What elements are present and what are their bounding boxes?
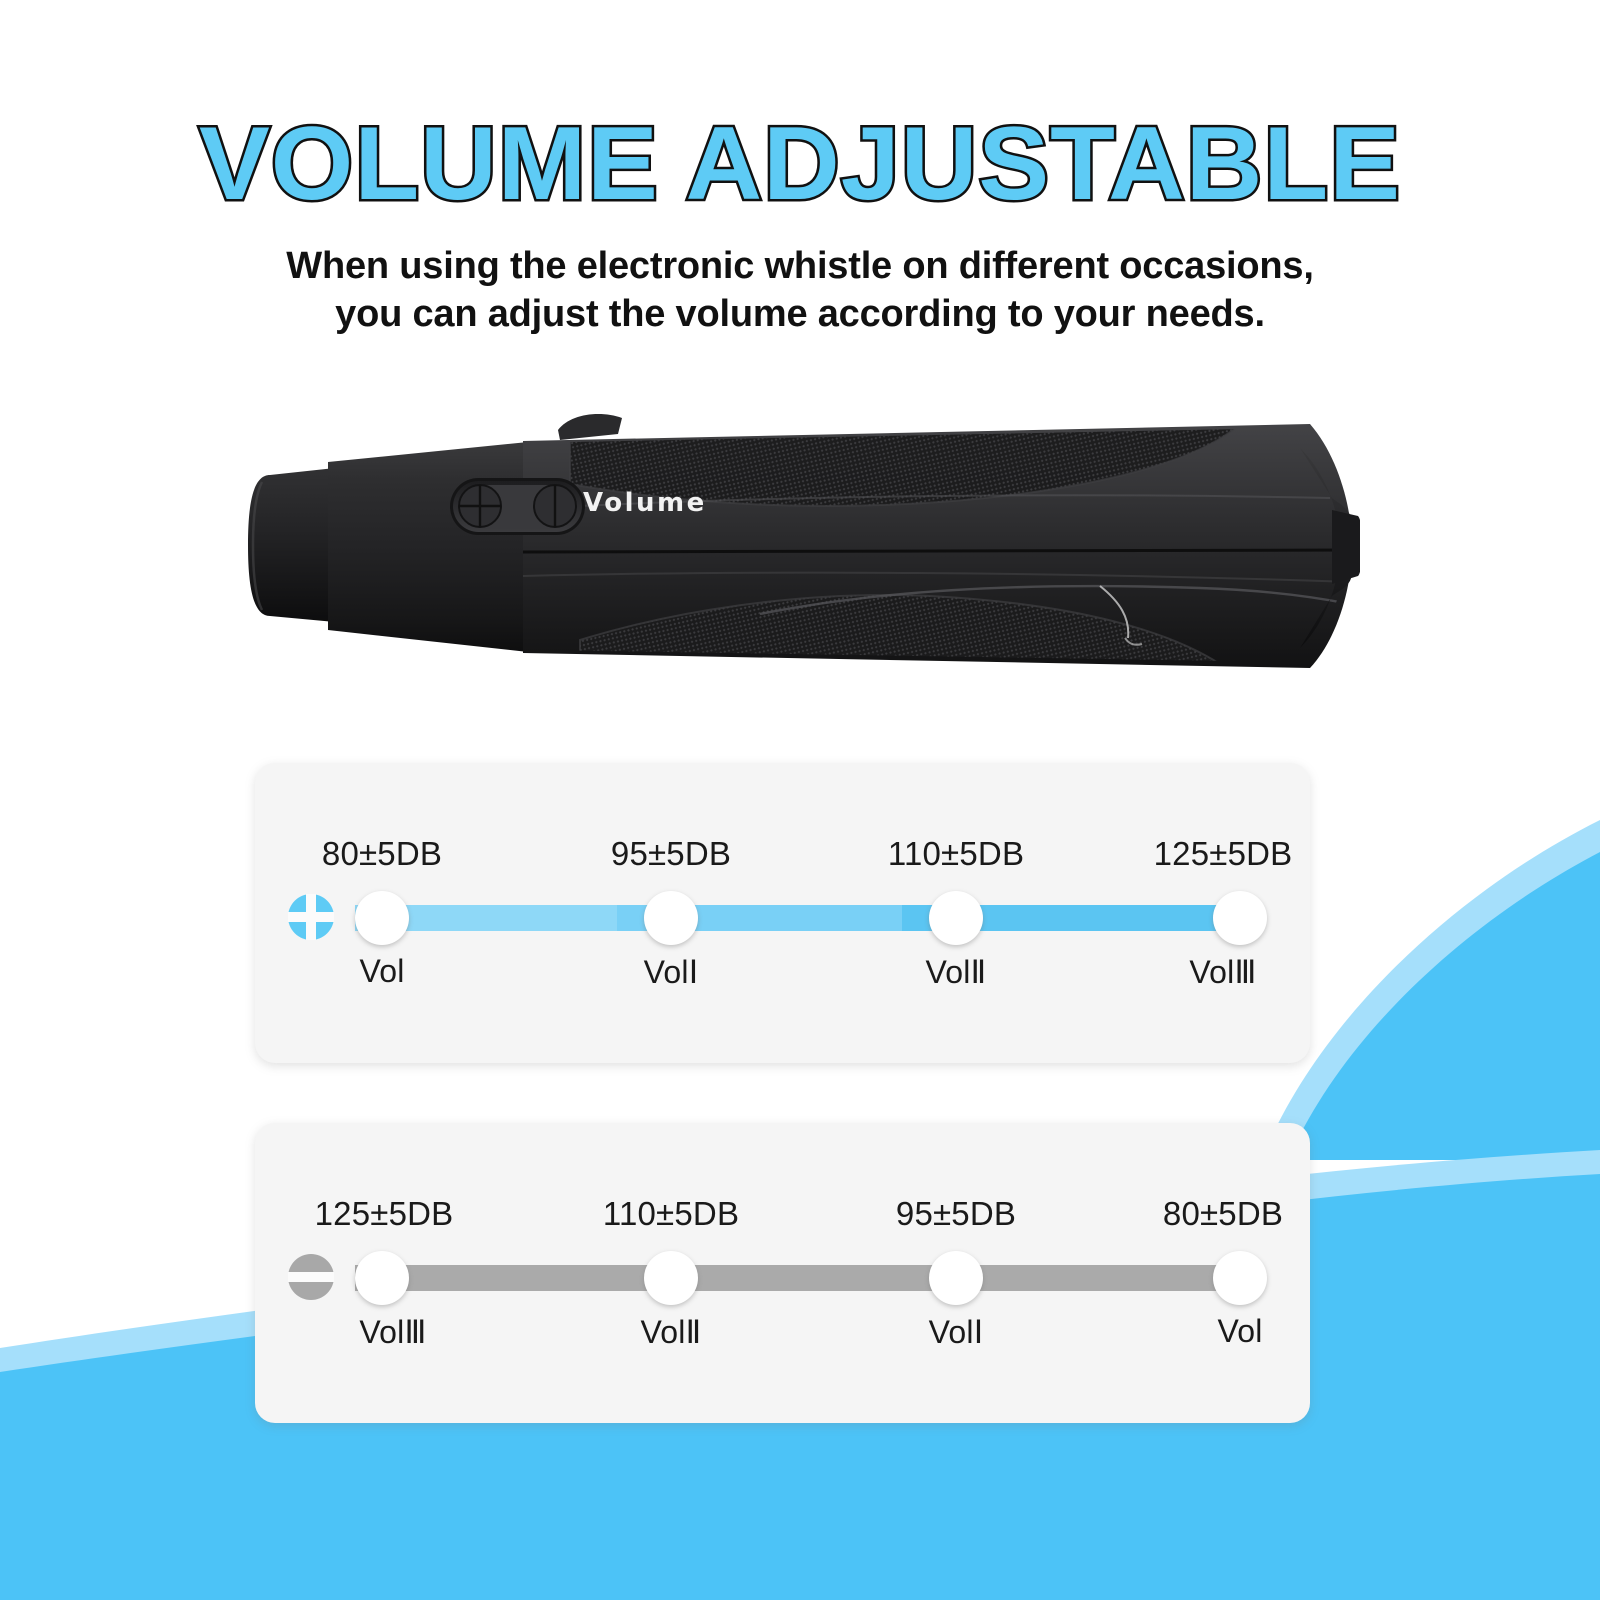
db-label: 80±5DB: [322, 835, 442, 873]
vol-label: Vol: [1217, 1313, 1262, 1350]
subtitle-line-1: When using the electronic whistle on dif…: [0, 242, 1600, 290]
volume-decrease-card: 125±5DB 110±5DB 95±5DB 80±5DB VolⅢ VolⅡ …: [255, 1123, 1310, 1423]
vol-label: VolⅠ: [929, 1313, 984, 1351]
whistle-end-cap: [248, 468, 335, 622]
volume-slider-increase[interactable]: 80±5DB 95±5DB 110±5DB 125±5DB Vol VolⅠ V…: [255, 763, 1310, 1063]
wave-right: [1288, 852, 1600, 1160]
whistle-top-nub: [558, 414, 622, 440]
header: VOLUME ADJUSTABLE When using the electro…: [0, 0, 1600, 339]
whistle-illustration: [240, 400, 1360, 700]
slider-knob[interactable]: [1213, 891, 1267, 945]
db-label: 95±5DB: [611, 835, 731, 873]
volume-switch[interactable]: [450, 478, 585, 535]
db-label: 125±5DB: [1154, 835, 1293, 873]
flathead-screw-icon[interactable]: [288, 1254, 334, 1300]
whistle-barrel: [328, 442, 528, 652]
page-subtitle: When using the electronic whistle on dif…: [0, 216, 1600, 339]
db-label: 110±5DB: [603, 1195, 739, 1233]
volume-switch-label: Volume: [583, 488, 707, 518]
slider-knob[interactable]: [1213, 1251, 1267, 1305]
db-label: 80±5DB: [1163, 1195, 1283, 1233]
volume-increase-card: 80±5DB 95±5DB 110±5DB 125±5DB Vol VolⅠ V…: [255, 763, 1310, 1063]
slider-knob[interactable]: [929, 891, 983, 945]
slider-knob[interactable]: [355, 1251, 409, 1305]
wave-right-light: [1270, 820, 1600, 1140]
phillips-screw-icon[interactable]: [288, 894, 334, 940]
slider-knob[interactable]: [644, 1251, 698, 1305]
slider-knob[interactable]: [644, 891, 698, 945]
slider-track-gray[interactable]: [355, 1265, 1240, 1291]
vol-label: VolⅢ: [359, 1313, 426, 1351]
vol-label: VolⅡ: [640, 1313, 701, 1351]
vol-label: VolⅡ: [925, 953, 986, 991]
db-label: 125±5DB: [315, 1195, 454, 1233]
volume-slider-decrease[interactable]: 125±5DB 110±5DB 95±5DB 80±5DB VolⅢ VolⅡ …: [255, 1123, 1310, 1423]
subtitle-line-2: you can adjust the volume according to y…: [0, 290, 1600, 338]
slider-knob[interactable]: [355, 891, 409, 945]
db-label: 95±5DB: [896, 1195, 1016, 1233]
slider-knob[interactable]: [929, 1251, 983, 1305]
vol-label: Vol: [359, 953, 404, 990]
page-title: VOLUME ADJUSTABLE: [0, 0, 1600, 216]
product-image-whistle: Volume: [240, 400, 1360, 700]
db-label: 110±5DB: [888, 835, 1024, 873]
vol-label: VolⅢ: [1189, 953, 1256, 991]
slider-track-blue[interactable]: [355, 905, 1240, 931]
whistle-tip-nozzle: [1332, 510, 1360, 584]
vol-label: VolⅠ: [644, 953, 699, 991]
